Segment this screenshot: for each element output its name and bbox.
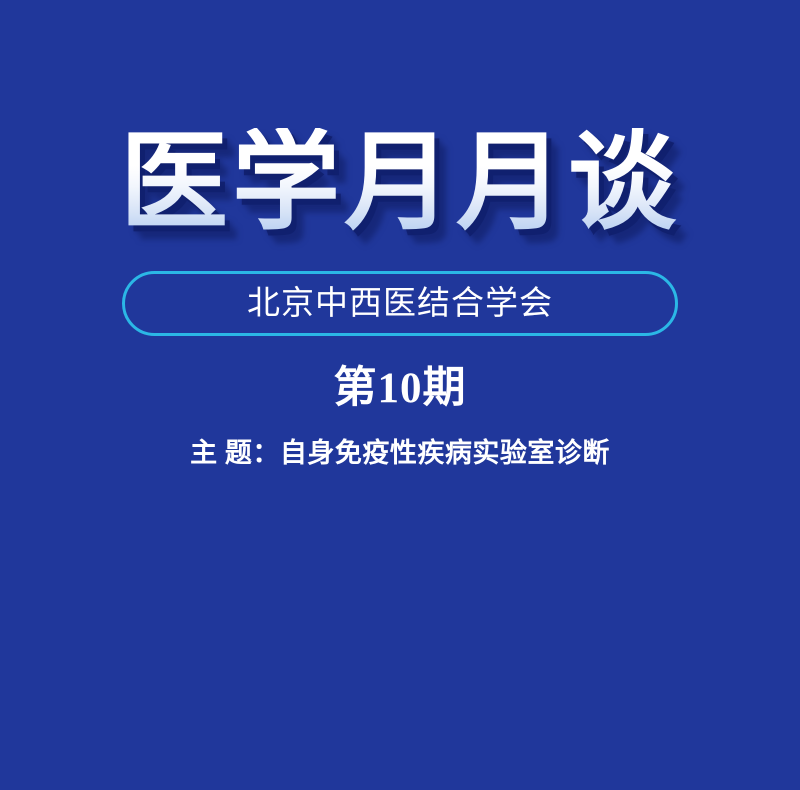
page-title: 医学月月谈 [120, 128, 680, 240]
issue-number: 第10期 [0, 364, 800, 414]
lower-empty-area [0, 500, 800, 790]
organization-pill: 北京中西医结合学会 [122, 271, 678, 336]
topic-line: 主 题：自身免疫性疾病实验室诊断 [0, 437, 800, 469]
organization-name: 北京中西医结合学会 [247, 286, 553, 322]
title-block: 医学月月谈 医学月月谈 [0, 128, 800, 240]
poster-canvas: 医学月月谈 医学月月谈 北京中西医结合学会 第10期 主 题：自身免疫性疾病实验… [0, 0, 800, 790]
